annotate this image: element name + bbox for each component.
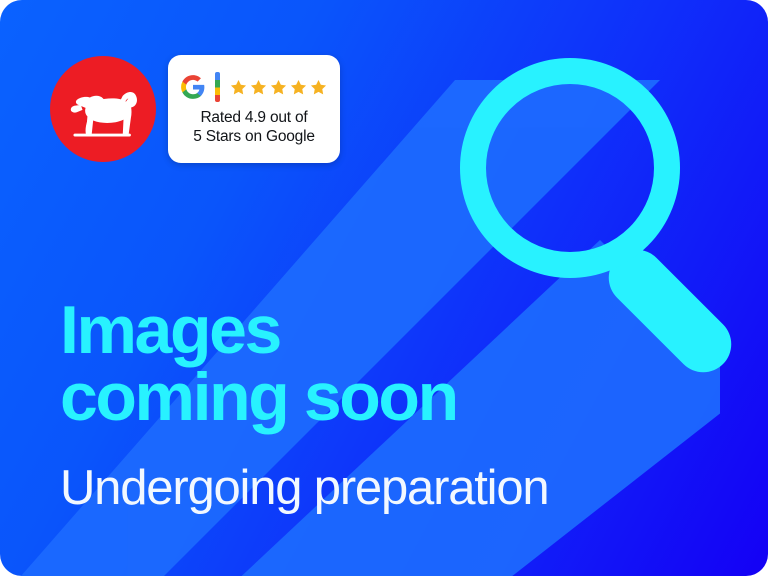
page-subtitle: Undergoing preparation	[60, 462, 548, 514]
page-title: Images coming soon	[60, 297, 750, 431]
star-icon	[249, 78, 268, 97]
headline-line-2: coming soon	[60, 364, 750, 431]
google-g-icon	[180, 74, 206, 100]
placeholder-banner: Rated 4.9 out of 5 Stars on Google Image…	[0, 0, 768, 576]
badge-caption-line1: Rated 4.9 out of	[193, 109, 315, 128]
star-icon	[289, 78, 308, 97]
badge-rating-row	[180, 70, 328, 104]
brand-logo	[50, 56, 156, 162]
star-icon	[309, 78, 328, 97]
badge-caption-line2: 5 Stars on Google	[193, 128, 315, 147]
star-icon	[269, 78, 288, 97]
star-icon	[229, 78, 248, 97]
dog-silhouette-icon	[62, 68, 144, 150]
star-rating	[229, 78, 328, 97]
badge-caption: Rated 4.9 out of 5 Stars on Google	[193, 109, 315, 146]
google-review-badge[interactable]: Rated 4.9 out of 5 Stars on Google	[168, 55, 340, 163]
google-color-divider	[215, 72, 220, 102]
headline-line-1: Images	[60, 297, 750, 364]
